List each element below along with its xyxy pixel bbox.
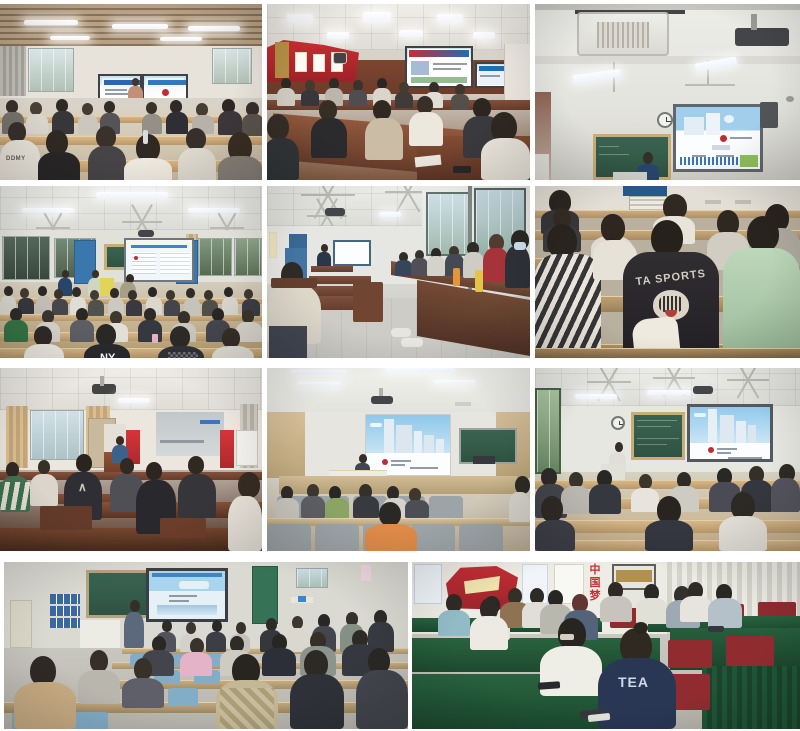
collage-photo-5[interactable] [267,186,530,358]
collage-photo-9[interactable] [535,368,800,551]
collage-photo-6[interactable]: TA SPORTS [535,186,800,358]
photo-4-scene: NY [0,186,262,358]
collage-photo-1[interactable]: DDMY [0,4,262,180]
collage-photo-4[interactable]: NY [0,186,262,358]
photo-7-scene: ∧ [0,368,262,551]
collage-photo-8[interactable] [267,368,530,551]
photo-11-scene: 中国梦 [412,562,800,729]
photo-8-scene [267,368,530,551]
collage-photo-2[interactable] [267,4,530,180]
photo-9-scene [535,368,800,551]
photo-5-scene [267,186,530,358]
photo-2-scene [267,4,530,180]
collage-photo-10[interactable] [4,562,408,729]
photo-6-scene: TA SPORTS [535,186,800,358]
photo-1-scene: DDMY [0,4,262,180]
photo-3-scene [535,4,800,180]
collage-photo-3[interactable] [535,4,800,180]
collage-photo-11[interactable]: 中国梦 [412,562,800,729]
collage-photo-7[interactable]: ∧ [0,368,262,551]
photo-collage: DDMY [0,0,800,731]
photo-10-scene [4,562,408,729]
